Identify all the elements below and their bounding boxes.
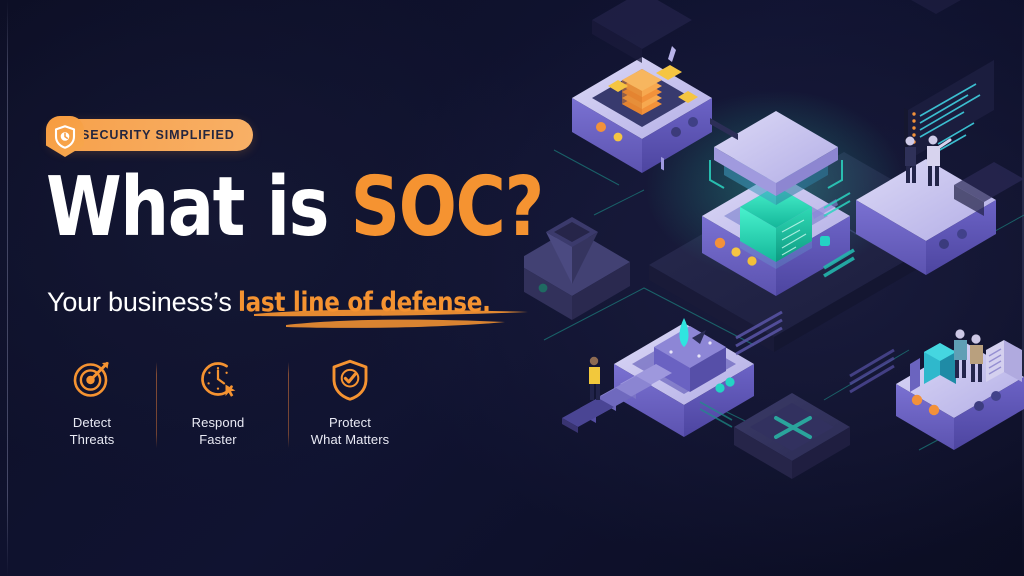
- feature-label-protect-what-matters: Protect What Matters: [290, 414, 410, 448]
- headline-white-part: What is: [46, 160, 351, 255]
- feature-item-protect-what-matters: Protect What Matters: [290, 358, 410, 448]
- feature-item-respond-faster: Respond Faster: [158, 358, 278, 448]
- radar-target-icon: [32, 358, 152, 404]
- pedestrian-figure: [589, 357, 600, 400]
- feature-label-line2: What Matters: [290, 431, 410, 448]
- floating-indicators: [820, 236, 830, 246]
- shield-check-icon: [290, 358, 410, 404]
- status-light-yellow: [731, 247, 740, 256]
- connection-cable: [850, 350, 894, 392]
- badge-label: SECURITY SIMPLIFIED: [81, 128, 235, 142]
- clock-cursor-icon: [158, 358, 278, 404]
- feature-divider-2: [288, 362, 289, 448]
- status-light-orange: [715, 238, 725, 248]
- left-content-panel: SECURITY SIMPLIFIED What is SOC? Your bu…: [0, 0, 560, 576]
- feature-label-respond-faster: Respond Faster: [158, 414, 278, 448]
- feature-divider-1: [156, 362, 157, 448]
- page-title: What is SOC?: [46, 166, 543, 250]
- feature-label-line2: Faster: [158, 431, 278, 448]
- status-light-teal: [539, 284, 548, 293]
- feature-label-detect-threats: Detect Threats: [32, 414, 152, 448]
- feature-label-line1: Detect: [32, 414, 152, 431]
- feature-label-line2: Threats: [32, 431, 152, 448]
- status-light-yellow: [614, 133, 623, 142]
- feature-label-line1: Respond: [158, 414, 278, 431]
- shield-clock-icon: [46, 116, 84, 157]
- status-light-amber: [747, 256, 756, 265]
- security-simplified-badge: SECURITY SIMPLIFIED: [47, 119, 253, 151]
- feature-list: Detect Threats Respond: [47, 358, 447, 454]
- funnel-node: [524, 217, 630, 320]
- feature-label-line1: Protect: [290, 414, 410, 431]
- status-light-amber: [929, 405, 939, 415]
- headline-orange-part: SOC?: [351, 160, 543, 255]
- feature-item-detect-threats: Detect Threats: [32, 358, 152, 448]
- brush-stroke-underline-icon: [250, 306, 535, 334]
- dashboard-screen: [904, 60, 994, 160]
- status-light-orange: [596, 122, 606, 132]
- server-rack-node: [850, 329, 1024, 450]
- subtitle-plain-text: Your business’s: [47, 287, 232, 317]
- isometric-soc-network-illustration: [524, 0, 1024, 576]
- status-light-orange: [912, 395, 922, 405]
